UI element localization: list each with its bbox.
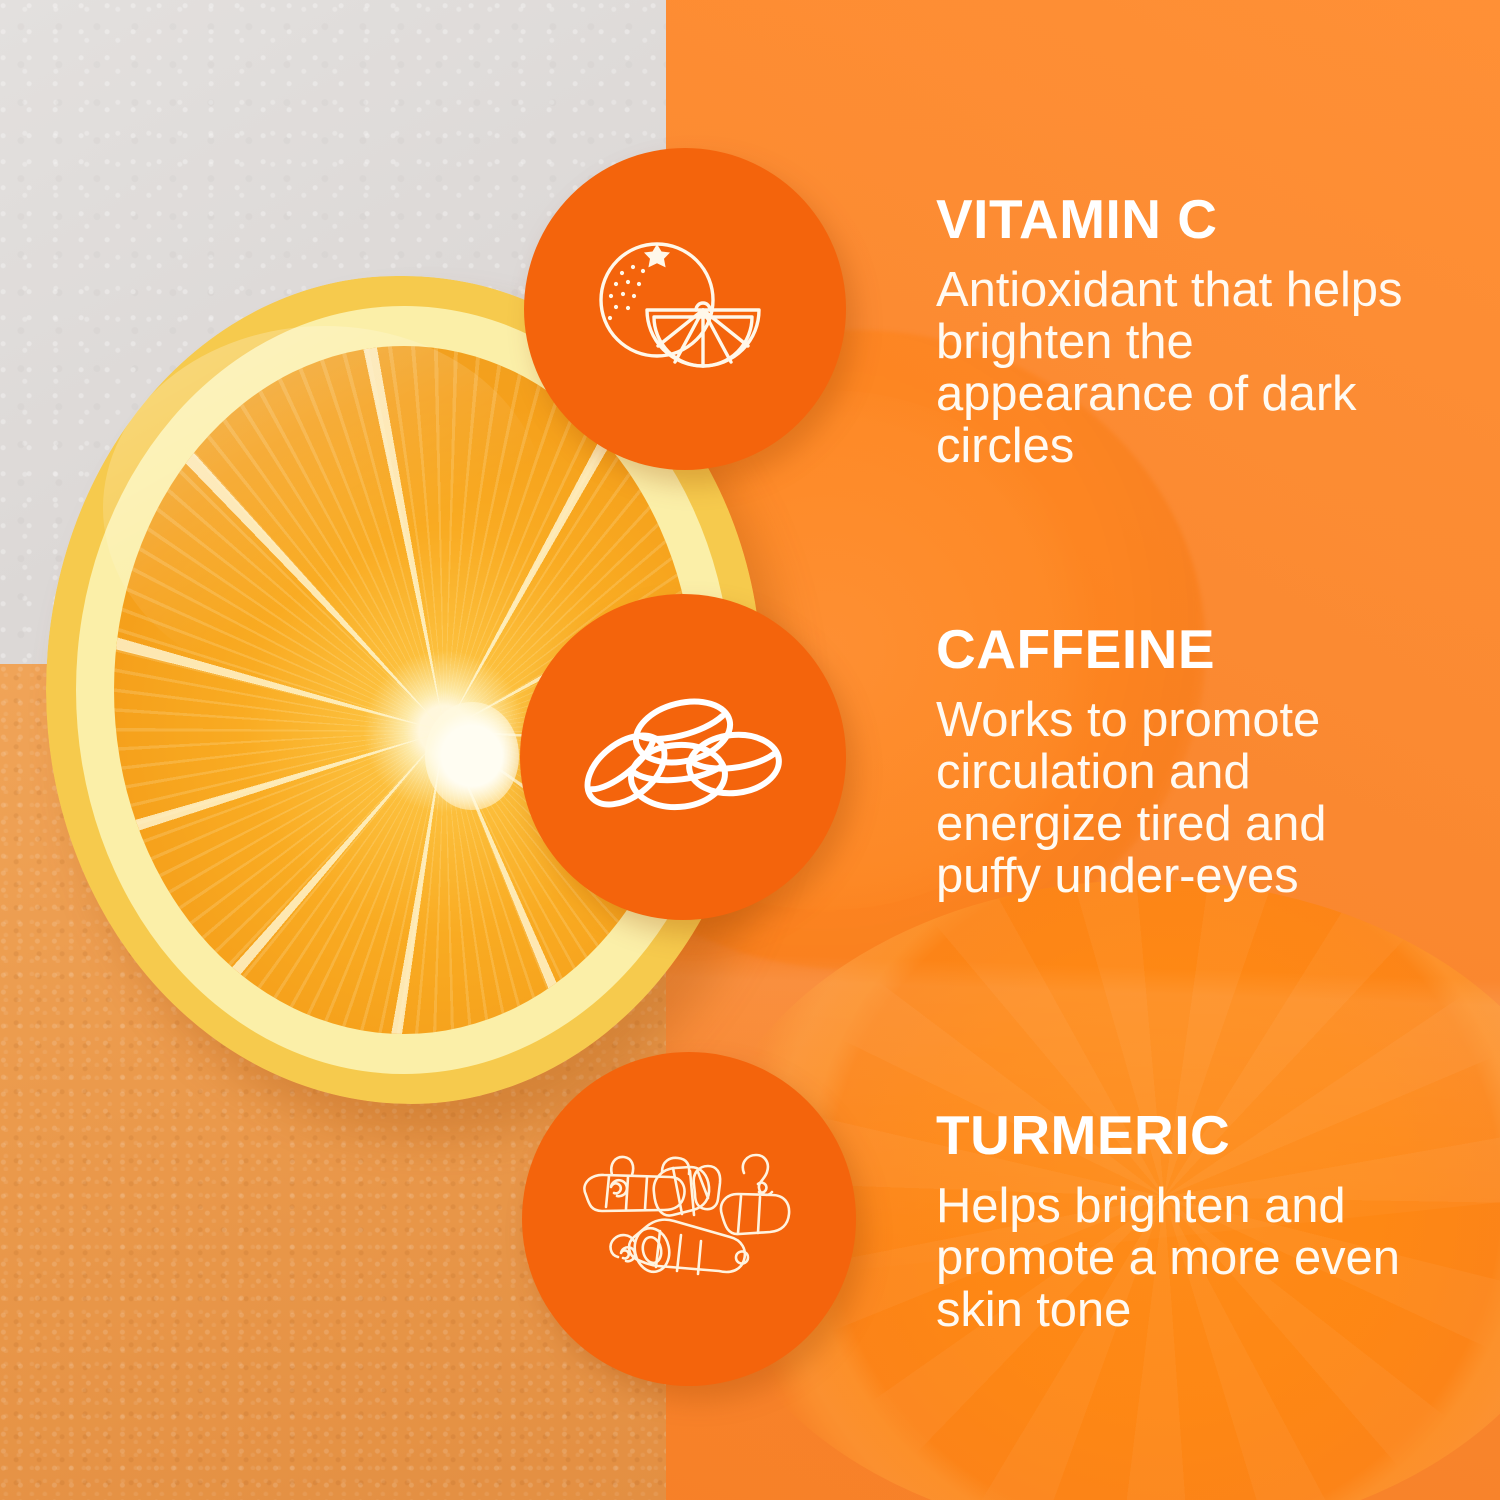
orange-gloss-highlight <box>103 326 547 690</box>
coffee-beans-icon <box>578 692 788 822</box>
turmeric-root-icon <box>574 1139 804 1299</box>
ingredient-text-vitamin-c: VITAMIN C Antioxidant that helps brighte… <box>936 192 1406 473</box>
ingredient-title: TURMERIC <box>936 1108 1406 1163</box>
ingredient-badge-vitamin-c[interactable] <box>524 148 846 470</box>
ingredient-badge-turmeric[interactable] <box>522 1052 856 1386</box>
ingredient-description: Helps brighten and promote a more even s… <box>936 1181 1406 1337</box>
infographic-canvas: VITAMIN C Antioxidant that helps brighte… <box>0 0 1500 1500</box>
ingredient-title: VITAMIN C <box>936 192 1406 247</box>
ingredient-text-caffeine: CAFFEINE Works to promote circulation an… <box>936 622 1406 903</box>
orange-core <box>425 702 518 810</box>
ingredient-description: Works to promote circulation and energiz… <box>936 695 1406 903</box>
ingredient-text-turmeric: TURMERIC Helps brighten and promote a mo… <box>936 1108 1406 1337</box>
ingredient-description: Antioxidant that helps brighten the appe… <box>936 265 1406 473</box>
ingredient-title: CAFFEINE <box>936 622 1406 677</box>
orange-fruit-icon <box>585 234 785 384</box>
ingredient-badge-caffeine[interactable] <box>520 594 846 920</box>
